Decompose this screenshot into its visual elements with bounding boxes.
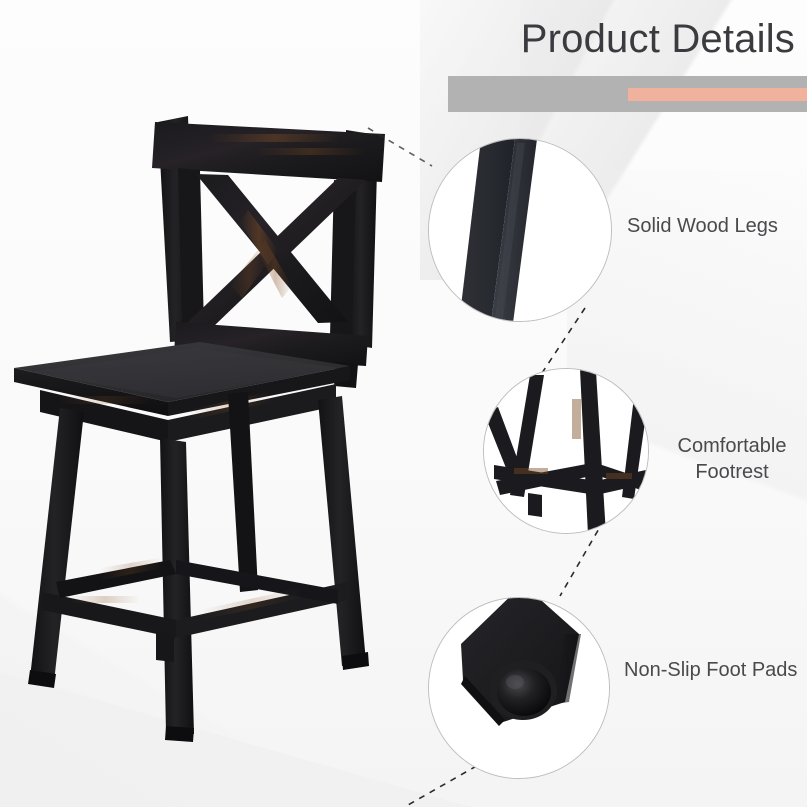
callout-label-line-1: Comfortable xyxy=(662,433,802,459)
callout-label-solid-wood-legs: Solid Wood Legs xyxy=(627,213,778,239)
product-image-bar-stool xyxy=(0,90,420,780)
callout-label-comfortable-footrest: Comfortable Footrest xyxy=(662,433,802,485)
callout-circle-non-slip-foot-pads xyxy=(428,597,610,779)
page-title: Product Details xyxy=(400,14,795,64)
callout-circle-comfortable-footrest xyxy=(483,368,649,534)
header-accent-bar xyxy=(628,88,807,101)
product-details-page: Product Details xyxy=(0,0,807,807)
callout-label-line-1: Non-Slip Foot Pads xyxy=(624,657,797,683)
callout-label-line-1: Solid Wood Legs xyxy=(627,213,778,239)
callout-label-non-slip-foot-pads: Non-Slip Foot Pads xyxy=(624,657,797,683)
callout-circle-solid-wood-legs xyxy=(428,138,612,322)
callout-label-line-2: Footrest xyxy=(662,459,802,485)
